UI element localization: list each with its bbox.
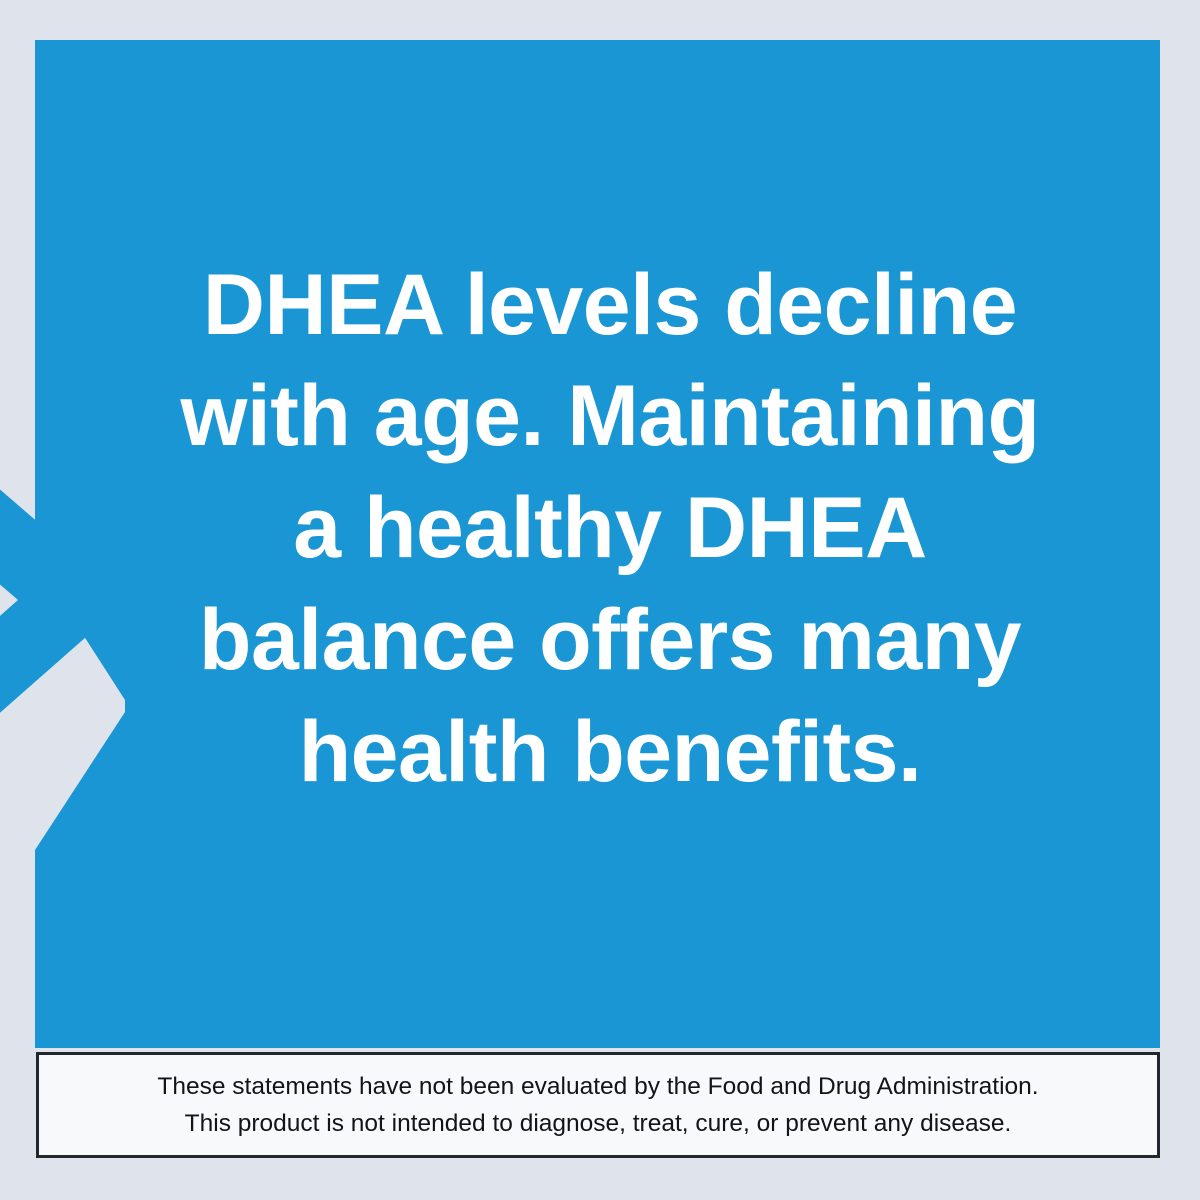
- disclaimer-line-2: This product is not intended to diagnose…: [185, 1105, 1012, 1142]
- fda-disclaimer-box: These statements have not been evaluated…: [36, 1052, 1160, 1158]
- disclaimer-line-1: These statements have not been evaluated…: [157, 1068, 1038, 1105]
- promo-card: DHEA levels decline with age. Maintainin…: [0, 0, 1200, 1200]
- quote-headline: DHEA levels decline with age. Maintainin…: [180, 250, 1039, 809]
- quote-panel: DHEA levels decline with age. Maintainin…: [35, 40, 1160, 1048]
